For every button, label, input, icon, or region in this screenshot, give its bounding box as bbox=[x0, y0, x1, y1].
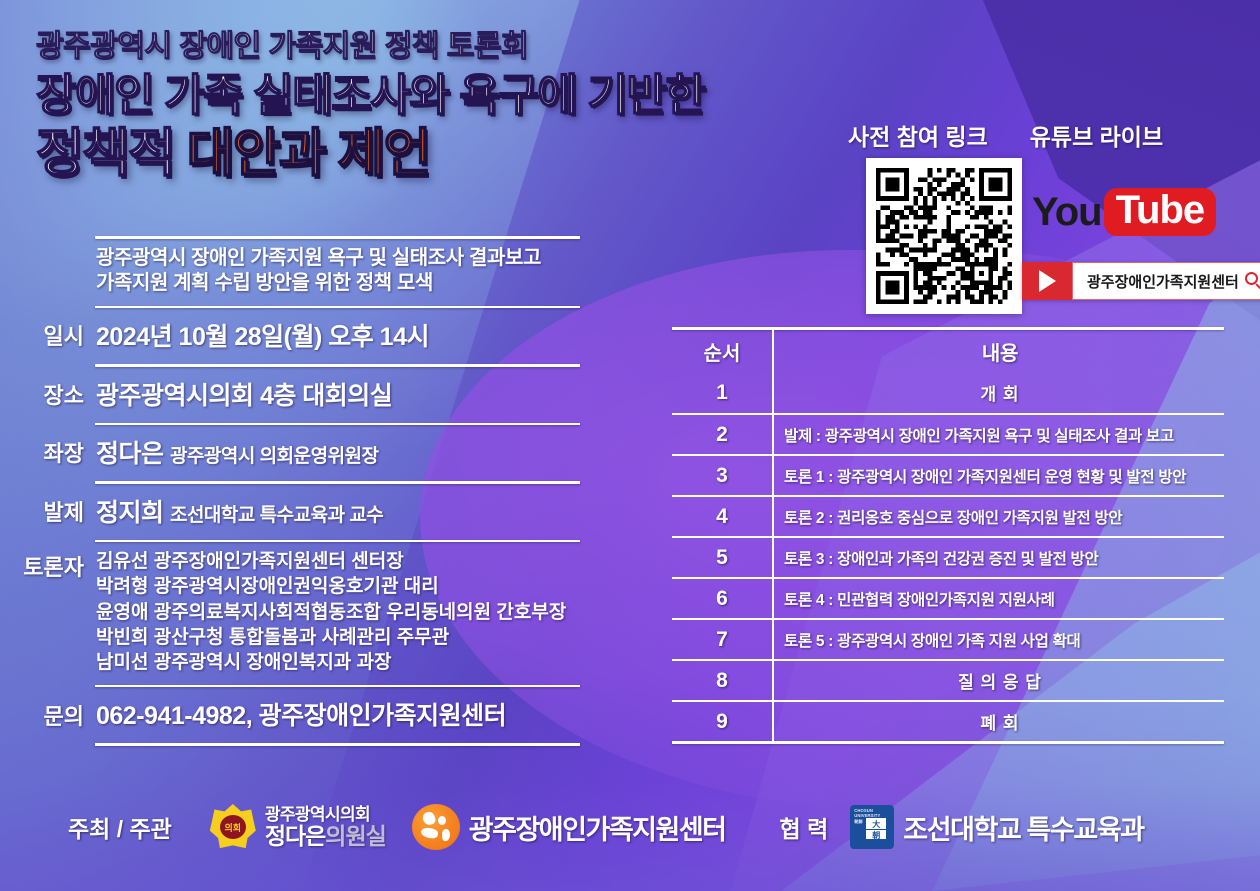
qr-code-canvas bbox=[876, 168, 1012, 304]
info-value-venue-wrap: 광주광역시의회 4층 대회의실 bbox=[96, 367, 600, 423]
table-cell-order: 1 bbox=[672, 372, 774, 413]
title-block: 광주광역시 장애인 가족지원 정책 토론회 장애인 가족 실태조사와 욕구에 기… bbox=[36, 30, 866, 183]
table-row: 8질 의 응 답 bbox=[672, 659, 1224, 700]
info-value-purpose: 광주광역시 장애인 가족지원 욕구 및 실태조사 결과보고 가족지원 계획 수립… bbox=[96, 239, 600, 306]
info-label-presenter: 발제 bbox=[0, 484, 96, 527]
column-header-order: 순서 bbox=[672, 330, 774, 372]
table-row: 3토론 1 : 광주광역시 장애인 가족지원센터 운영 현황 및 발전 방안 bbox=[672, 454, 1224, 495]
info-label-chair: 좌장 bbox=[0, 425, 96, 468]
info-row-discussants: 토론자 김유선 광주장애인가족지원센터 센터장 박려형 광주광역시장애인권익옹호… bbox=[0, 542, 600, 684]
title-part-orange-1: 대안과 bbox=[187, 125, 325, 183]
event-info-panel: 광주광역시 장애인 가족지원 욕구 및 실태조사 결과보고 가족지원 계획 수립… bbox=[0, 236, 600, 746]
magnifier-icon[interactable] bbox=[1245, 272, 1260, 291]
info-value-contact: 062-941-4982, 광주장애인가족지원센터 bbox=[96, 696, 600, 732]
program-table: 순서 내용 1개 회2발제 : 광주광역시 장애인 가족지원 욕구 및 실태조사… bbox=[672, 327, 1224, 744]
info-value-datetime: 2024년 10월 28일(월) 오후 14시 bbox=[96, 317, 600, 353]
label-prereg-link: 사전 참여 링크 bbox=[848, 118, 988, 152]
info-row-datetime: 일시 2024년 10월 28일(월) 오후 14시 bbox=[0, 308, 600, 364]
table-cell-order: 7 bbox=[672, 620, 774, 659]
info-value-presenter-wrap: 정지희 조선대학교 특수교육과 교수 bbox=[96, 484, 600, 540]
council-line-2: 정다은의원실 bbox=[265, 824, 386, 848]
youtube-logo: You Tube bbox=[1032, 188, 1216, 236]
info-label-discussants: 토론자 bbox=[0, 542, 96, 582]
info-value-chair-wrap: 정다은 광주광역시 의회운영위원장 bbox=[96, 425, 600, 481]
table-cell-content: 토론 2 : 권리옹호 중심으로 장애인 가족지원 발전 방안 bbox=[774, 497, 1224, 536]
info-row-presenter: 발제 정지희 조선대학교 특수교육과 교수 bbox=[0, 484, 600, 540]
poster-title: 정책적 대안과 제언 bbox=[36, 126, 866, 183]
table-cell-content: 폐 회 bbox=[774, 702, 1224, 741]
table-cell-order: 6 bbox=[672, 579, 774, 618]
footer-coop-label: 협 력 bbox=[780, 810, 829, 844]
table-row: 2발제 : 광주광역시 장애인 가족지원 욕구 및 실태조사 결과 보고 bbox=[672, 413, 1224, 454]
council-office-label: 의원실 bbox=[325, 823, 385, 849]
table-cell-order: 5 bbox=[672, 538, 774, 577]
table-cell-order: 8 bbox=[672, 661, 774, 700]
table-bottom-rule bbox=[672, 741, 1224, 744]
title-part-orange-2: 제언 bbox=[338, 125, 430, 183]
youtube-search-bar[interactable]: 광주장애인가족지원센터 bbox=[1022, 262, 1260, 300]
table-row: 1개 회 bbox=[672, 372, 1224, 413]
divider bbox=[95, 743, 580, 746]
poster-subtitle: 장애인 가족 실태조사와 욕구에 기반한 bbox=[36, 71, 866, 120]
footer-host-label: 주최 / 주관 bbox=[68, 810, 172, 844]
info-label-datetime: 일시 bbox=[0, 308, 96, 351]
university-name: 조선대학교 특수교육과 bbox=[903, 808, 1144, 847]
table-row: 7토론 5 : 광주광역시 장애인 가족 지원 사업 확대 bbox=[672, 618, 1224, 659]
table-cell-content: 개 회 bbox=[774, 372, 1224, 413]
council-flower-icon: 의회 bbox=[210, 804, 256, 850]
council-text: 광주광역시의회 정다은의원실 bbox=[265, 806, 386, 848]
list-item: 박려형 광주광역시장애인권익옹호기관 대리 bbox=[96, 574, 600, 599]
council-member-name: 정다은 bbox=[265, 823, 325, 849]
organizer-council: 의회 광주광역시의회 정다은의원실 bbox=[210, 804, 386, 850]
table-header-row: 순서 내용 bbox=[672, 330, 1224, 372]
table-cell-content: 질 의 응 답 bbox=[774, 661, 1224, 700]
youtube-logo-you: You bbox=[1032, 192, 1102, 232]
chair-name: 정다은 bbox=[96, 440, 164, 468]
list-item: 박빈희 광산구청 통합돌봄과 사례관리 주무관 bbox=[96, 625, 600, 650]
info-value-presenter: 정지희 조선대학교 특수교육과 교수 bbox=[96, 493, 600, 529]
table-row: 5토론 3 : 장애인과 가족의 건강권 증진 및 발전 방안 bbox=[672, 536, 1224, 577]
youtube-logo-tube: Tube bbox=[1104, 188, 1217, 236]
table-cell-order: 9 bbox=[672, 702, 774, 741]
council-logo-mark: 의회 bbox=[220, 815, 246, 839]
discussant-list: 김유선 광주장애인가족지원센터 센터장 박려형 광주광역시장애인권익옹호기관 대… bbox=[96, 542, 600, 684]
organizer-center: 광주장애인가족지원센터 bbox=[412, 804, 726, 850]
youtube-search-text: 광주장애인가족지원센터 bbox=[1087, 271, 1239, 292]
chosun-university-icon: CHOSUNUNIVERSITY朝鮮 大 朝 bbox=[850, 805, 894, 849]
purpose-line-2: 가족지원 계획 수립 방안을 위한 정책 모색 bbox=[96, 271, 600, 297]
table-cell-content: 토론 5 : 광주광역시 장애인 가족 지원 사업 확대 bbox=[774, 620, 1224, 659]
info-label-contact: 문의 bbox=[0, 687, 96, 731]
list-item: 윤영애 광주의료복지사회적협동조합 우리동네의원 간호부장 bbox=[96, 600, 600, 625]
table-cell-content: 토론 3 : 장애인과 가족의 건강권 증진 및 발전 방안 bbox=[774, 538, 1224, 577]
info-row-venue: 장소 광주광역시의회 4층 대회의실 bbox=[0, 367, 600, 423]
council-line-1: 광주광역시의회 bbox=[265, 806, 386, 824]
title-part-white: 정책적 bbox=[36, 125, 174, 183]
list-item: 남미선 광주광역시 장애인복지과 과장 bbox=[96, 650, 600, 675]
presenter-affiliation: 조선대학교 특수교육과 교수 bbox=[170, 505, 383, 526]
info-row-chair: 좌장 정다은 광주광역시 의회운영위원장 bbox=[0, 425, 600, 481]
family-support-center-icon bbox=[412, 804, 460, 850]
table-cell-order: 4 bbox=[672, 497, 774, 536]
info-value-chair: 정다은 광주광역시 의회운영위원장 bbox=[96, 434, 600, 470]
chair-affiliation: 광주광역시 의회운영위원장 bbox=[170, 446, 379, 467]
column-header-content: 내용 bbox=[774, 330, 1224, 372]
table-cell-content: 토론 4 : 민관협력 장애인가족지원 지원사례 bbox=[774, 579, 1224, 618]
info-value-contact-wrap: 062-941-4982, 광주장애인가족지원센터 bbox=[96, 687, 600, 743]
list-item: 김유선 광주장애인가족지원센터 센터장 bbox=[96, 549, 600, 574]
info-row-contact: 문의 062-941-4982, 광주장애인가족지원센터 bbox=[0, 687, 600, 743]
center-name: 광주장애인가족지원센터 bbox=[469, 808, 726, 847]
label-youtube-live: 유튜브 라이브 bbox=[1030, 118, 1163, 152]
table-cell-content: 발제 : 광주광역시 장애인 가족지원 욕구 및 실태조사 결과 보고 bbox=[774, 415, 1224, 454]
purpose-line-1: 광주광역시 장애인 가족지원 욕구 및 실태조사 결과보고 bbox=[96, 246, 600, 272]
table-body: 1개 회2발제 : 광주광역시 장애인 가족지원 욕구 및 실태조사 결과 보고… bbox=[672, 372, 1224, 741]
table-cell-content: 토론 1 : 광주광역시 장애인 가족지원센터 운영 현황 및 발전 방안 bbox=[774, 456, 1224, 495]
right-top-labels: 사전 참여 링크 유튜브 라이브 bbox=[848, 118, 1248, 152]
poster-kicker: 광주광역시 장애인 가족지원 정책 토론회 bbox=[36, 30, 866, 65]
qr-code-icon[interactable] bbox=[866, 158, 1022, 314]
play-icon[interactable] bbox=[1022, 262, 1072, 300]
table-row: 4토론 2 : 권리옹호 중심으로 장애인 가족지원 발전 방안 bbox=[672, 495, 1224, 536]
table-row: 9폐 회 bbox=[672, 700, 1224, 741]
table-cell-order: 2 bbox=[672, 415, 774, 454]
presenter-name: 정지희 bbox=[96, 499, 164, 527]
table-row: 6토론 4 : 민관협력 장애인가족지원 지원사례 bbox=[672, 577, 1224, 618]
info-label-venue: 장소 bbox=[0, 367, 96, 410]
info-value-datetime-wrap: 2024년 10월 28일(월) 오후 14시 bbox=[96, 308, 600, 364]
info-value-venue: 광주광역시의회 4층 대회의실 bbox=[96, 376, 600, 412]
info-row-purpose: 광주광역시 장애인 가족지원 욕구 및 실태조사 결과보고 가족지원 계획 수립… bbox=[0, 239, 600, 306]
event-poster: 광주광역시 장애인 가족지원 정책 토론회 장애인 가족 실태조사와 욕구에 기… bbox=[0, 0, 1260, 891]
youtube-search-field[interactable]: 광주장애인가족지원센터 bbox=[1072, 262, 1260, 300]
cooperator-university: CHOSUNUNIVERSITY朝鮮 大 朝 조선대학교 특수교육과 bbox=[850, 805, 1144, 849]
poster-footer: 주최 / 주관 의회 광주광역시의회 정다은의원실 광주장애인가족지원센터 협 … bbox=[0, 791, 1260, 863]
table-cell-order: 3 bbox=[672, 456, 774, 495]
